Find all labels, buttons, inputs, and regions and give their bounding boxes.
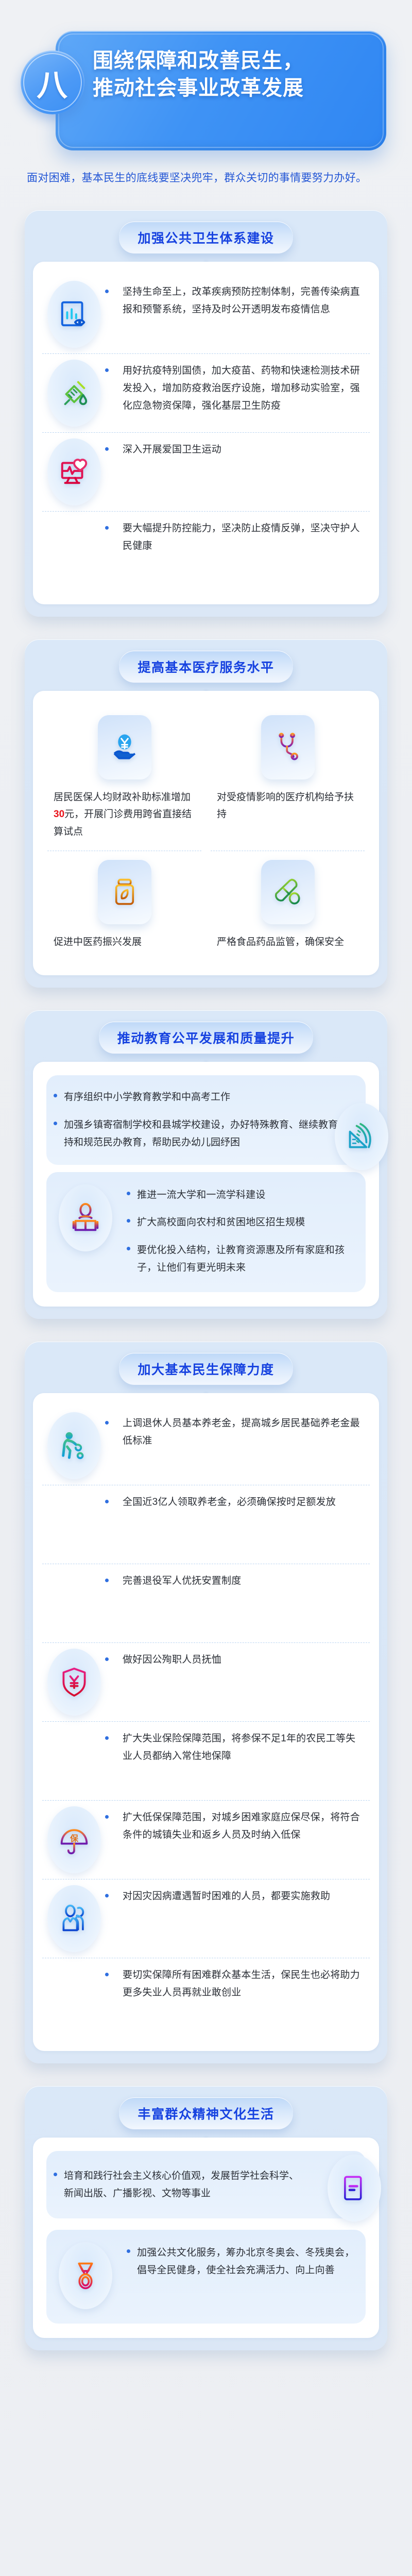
spacer-icon (42, 1729, 106, 1793)
grid-cell-text: 对受疫情影响的医疗机构给予扶持 (215, 789, 360, 823)
bullet-dot-icon (105, 1894, 109, 1897)
list-item-text: 上调退休人员基本养老金，提高城乡居民基础养老金最低标准 (106, 1414, 370, 1451)
bullet-dot-icon (105, 290, 109, 293)
bullet-dot-icon (54, 1122, 57, 1125)
section-title-education: 推动教育公平发展和质量提升 (99, 1022, 314, 1054)
section-title-medical-service: 提高基本医疗服务水平 (119, 651, 293, 683)
list-item: 加强乡镇寄宿制学校和县城学校建设，办好特殊教育、继续教育，支持和规范民办教育，帮… (54, 1111, 358, 1157)
list-item-text: 深入开展爱国卫生运动 (106, 440, 370, 460)
spacer-icon (42, 1493, 106, 1556)
shield-yuan-icon (42, 1650, 106, 1714)
section-title-wrap: 加强公共卫生体系建设 (33, 222, 379, 253)
grid-cell-text: 促进中医药振兴发展 (51, 934, 197, 951)
bullet-dot-icon (105, 1421, 109, 1425)
section-title-wrap: 加大基本民生保障力度 (33, 1353, 379, 1385)
section-title-wrap: 提高基本医疗服务水平 (33, 651, 379, 683)
page-title-line-2: 推动社会事业改革发展 (93, 75, 376, 102)
student-reading-book-icon (51, 1179, 119, 1257)
list-item: 有序组织中小学教育教学和中高考工作 (54, 1083, 358, 1111)
capsule-pill-icon (261, 859, 315, 924)
grid-cell-text: 严格食品药品监管，确保安全 (215, 934, 360, 951)
list-item-text: 扩大失业保险保障范围，将参保不足1年的农民工等失业人员都纳入常住地保障 (106, 1729, 370, 1766)
bullet-dot-icon (105, 1736, 109, 1740)
list-item: 全国近3亿人领取养老金，必须确保按时足额发放 (42, 1485, 370, 1564)
section-body-public-health: 坚持生命至上，改革疾病预防控制体制，完善传染病直报和预警系统，坚持及时公开透明发… (33, 262, 379, 604)
health-monitor-chart-icon (42, 282, 106, 346)
list-item-text: 全国近3亿人领取养老金，必须确保按时足额发放 (106, 1493, 370, 1512)
list-item: 要切实保障所有困难群众基本生活，保民生也必将助力更多失业人员再就业敢创业 (42, 1958, 370, 2037)
section-culture: 丰富群众精神文化生活 培育和践行社会主义核心价值观，发展哲学社会科学、新闻出版、… (25, 2086, 387, 2351)
medical-grid: 居民医保人均财政补助标准增加30元，开展门诊费用跨省直接结算试点 (42, 704, 370, 961)
section-education: 推动教育公平发展和质量提升 有序组织中小学教育教学和中高考工作 加强乡镇寄宿制学… (25, 1010, 387, 1319)
culture-bullets: 培育和践行社会主义核心价值观，发展哲学社会科学、新闻出版、广播影视、文物等事业 (54, 2162, 358, 2208)
bullet-dot-icon (105, 1579, 109, 1582)
section-title-wrap: 丰富群众精神文化生活 (33, 2097, 379, 2129)
lead-paragraph: 面对困难，基本民生的底线要坚决兜牢，群众关切的事情要努力办好。 (27, 169, 385, 188)
grid-cell: 严格食品药品监管，确保安全 (211, 851, 365, 961)
two-people-icon (42, 1887, 106, 1951)
page-header: 八 围绕保障和改善民生， 推动社会事业改革发展 (21, 27, 391, 150)
list-item-text: 要大幅提升防控能力，坚决防止疫情反弹，坚决守护人民健康 (106, 519, 370, 556)
bullet-dot-icon (127, 1247, 130, 1250)
medal-award-icon (51, 2237, 119, 2314)
section-title-culture: 丰富群众精神文化生活 (119, 2097, 293, 2129)
list-item: 要优化投入结构，让教育资源惠及所有家庭和孩子，让他们有更光明未来 (127, 1236, 355, 1282)
list-item: 做好因公殉职人员抚恤 (42, 1642, 370, 1721)
education-lower-bullets: 推进一流大学和一流学科建设 扩大高校面向农村和贫困地区招生规模 要优化投入结构，… (119, 1179, 360, 1283)
list-item: 加强公共文化服务，筹办北京冬奥会、冬残奥会，倡导全民健身，使全社会充满活力、向上… (127, 2239, 355, 2284)
education-lower-panel: 推进一流大学和一流学科建设 扩大高校面向农村和贫困地区招生规模 要优化投入结构，… (46, 1172, 366, 1292)
section-title-livelihood: 加大基本民生保障力度 (119, 1353, 293, 1385)
section-title-public-health: 加强公共卫生体系建设 (119, 222, 293, 253)
culture-item-panel-2: 加强公共文化服务，筹办北京冬奥会、冬残奥会，倡导全民健身，使全社会充满活力、向上… (46, 2230, 366, 2324)
stethoscope-icon (261, 715, 315, 779)
bullet-dot-icon (105, 447, 109, 451)
list-item-text: 对因灾因病遭遇暂时困难的人员，都要实施救助 (106, 1887, 370, 1906)
list-item-text: 要切实保障所有困难群众基本生活，保民生也必将助力更多失业人员再就业敢创业 (106, 1965, 370, 2003)
highlight-number: 30 (54, 809, 64, 820)
grid-cell: 居民医保人均财政补助标准增加30元，开展门诊费用跨省直接结算试点 (47, 706, 201, 851)
grid-cell: 促进中医药振兴发展 (47, 851, 201, 961)
page-title-line-1: 围绕保障和改善民生， (93, 47, 376, 75)
section-livelihood: 加大基本民生保障力度 (25, 1342, 387, 2063)
hand-yuan-coin-icon (98, 715, 151, 779)
bullet-dot-icon (54, 1094, 57, 1097)
grid-cell: 对受疫情影响的医疗机构给予扶持 (211, 706, 365, 851)
bullet-dot-icon (105, 1657, 109, 1661)
bullet-dot-icon (105, 368, 109, 372)
culture-item-panel: 培育和践行社会主义核心价值观，发展哲学社会科学、新闻出版、广播影视、文物等事业 (46, 2151, 366, 2219)
bullet-dot-icon (127, 2249, 130, 2253)
list-item: 完善退役军人优抚安置制度 (42, 1564, 370, 1642)
education-upper-bullets: 有序组织中小学教育教学和中高考工作 加强乡镇寄宿制学校和县城学校建设，办好特殊教… (54, 1083, 358, 1156)
ruler-set-square-icon (335, 1103, 388, 1170)
grid-cell-text: 居民医保人均财政补助标准增加30元，开展门诊费用跨省直接结算试点 (51, 789, 197, 840)
bullet-dot-icon (127, 1192, 130, 1195)
bullet-dot-icon (105, 1815, 109, 1819)
list-item: 保 扩大低保保障范围，对城乡困难家庭应保尽保，将符合条件的城镇失业和返乡人员及时… (42, 1800, 370, 1879)
list-item-text: 扩大低保保障范围，对城乡困难家庭应保尽保，将符合条件的城镇失业和返乡人员及时纳入… (106, 1808, 370, 1845)
spacer-icon (42, 1571, 106, 1635)
education-upper-panel: 有序组织中小学教育教学和中高考工作 加强乡镇寄宿制学校和县城学校建设，办好特殊教… (46, 1075, 366, 1164)
svg-text:保: 保 (70, 1834, 79, 1843)
list-item: 上调退休人员基本养老金，提高城乡居民基础养老金最低标准 (42, 1406, 370, 1485)
syringe-vaccine-icon (42, 361, 106, 425)
list-item: 深入开展爱国卫生运动 (42, 432, 370, 511)
section-body-education: 有序组织中小学教育教学和中高考工作 加强乡镇寄宿制学校和县城学校建设，办好特殊教… (33, 1062, 379, 1307)
list-item: 培育和践行社会主义核心价值观，发展哲学社会科学、新闻出版、广播影视、文物等事业 (54, 2162, 358, 2208)
list-item-text: 做好因公殉职人员抚恤 (106, 1650, 370, 1670)
list-item: 坚持生命至上，改革疾病预防控制体制，完善传染病直报和预警系统，坚持及时公开透明发… (42, 275, 370, 353)
section-number-text: 八 (21, 50, 84, 114)
list-item: 要大幅提升防控能力，坚决防止疫情反弹，坚决守护人民健康 (42, 511, 370, 590)
bullet-dot-icon (105, 526, 109, 530)
bullet-dot-icon (105, 1973, 109, 1976)
list-item: 扩大失业保险保障范围，将参保不足1年的农民工等失业人员都纳入常住地保障 (42, 1721, 370, 1800)
elderly-walker-icon (42, 1414, 106, 1478)
heart-monitor-screen-icon (42, 440, 106, 504)
infographic-page: 八 围绕保障和改善民生， 推动社会事业改革发展 面对困难，基本民生的底线要坚决兜… (0, 0, 412, 2576)
bullet-dot-icon (54, 2173, 57, 2176)
list-item-text: 坚持生命至上，改革疾病预防控制体制，完善传染病直报和预警系统，坚持及时公开透明发… (106, 282, 370, 319)
section-medical-service: 提高基本医疗服务水平 居民医保人均财政补助标准增加30元，开展门诊费用跨省 (25, 639, 387, 988)
spacer-icon (42, 1965, 106, 2029)
section-body-culture: 培育和践行社会主义核心价值观，发展哲学社会科学、新闻出版、广播影视、文物等事业 (33, 2138, 379, 2338)
bullet-dot-icon (105, 1500, 109, 1503)
umbrella-bao-icon: 保 (42, 1808, 106, 1872)
list-item: 推进一流大学和一流学科建设 (127, 1181, 355, 1209)
section-title-wrap: 推动教育公平发展和质量提升 (33, 1022, 379, 1054)
list-item: 用好抗疫特别国债，加大疫苗、药物和快速检测技术研发投入，增加防疫救治医疗设施，增… (42, 353, 370, 432)
list-item-text: 完善退役军人优抚安置制度 (106, 1571, 370, 1591)
book-document-icon (328, 2155, 381, 2222)
herbal-medicine-bottle-icon (98, 859, 151, 924)
list-item: 扩大高校面向农村和贫困地区招生规模 (127, 1209, 355, 1236)
list-item: 对因灾因病遭遇暂时困难的人员，都要实施救助 (42, 1879, 370, 1958)
bullet-dot-icon (127, 1219, 130, 1223)
page-title: 围绕保障和改善民生， 推动社会事业改革发展 (93, 47, 376, 102)
spacer-icon (42, 519, 106, 583)
section-number-badge: 八 (21, 50, 84, 114)
culture-bullets-2: 加强公共文化服务，筹办北京冬奥会、冬残奥会，倡导全民健身，使全社会充满活力、向上… (119, 2237, 360, 2285)
section-body-livelihood: 上调退休人员基本养老金，提高城乡居民基础养老金最低标准 全国近3亿人领取养老金，… (33, 1393, 379, 2051)
list-item-text: 用好抗疫特别国债，加大疫苗、药物和快速检测技术研发投入，增加防疫救治医疗设施，增… (106, 361, 370, 415)
section-body-medical-service: 居民医保人均财政补助标准增加30元，开展门诊费用跨省直接结算试点 (33, 691, 379, 975)
section-public-health: 加强公共卫生体系建设 坚持生命至上， (25, 210, 387, 617)
